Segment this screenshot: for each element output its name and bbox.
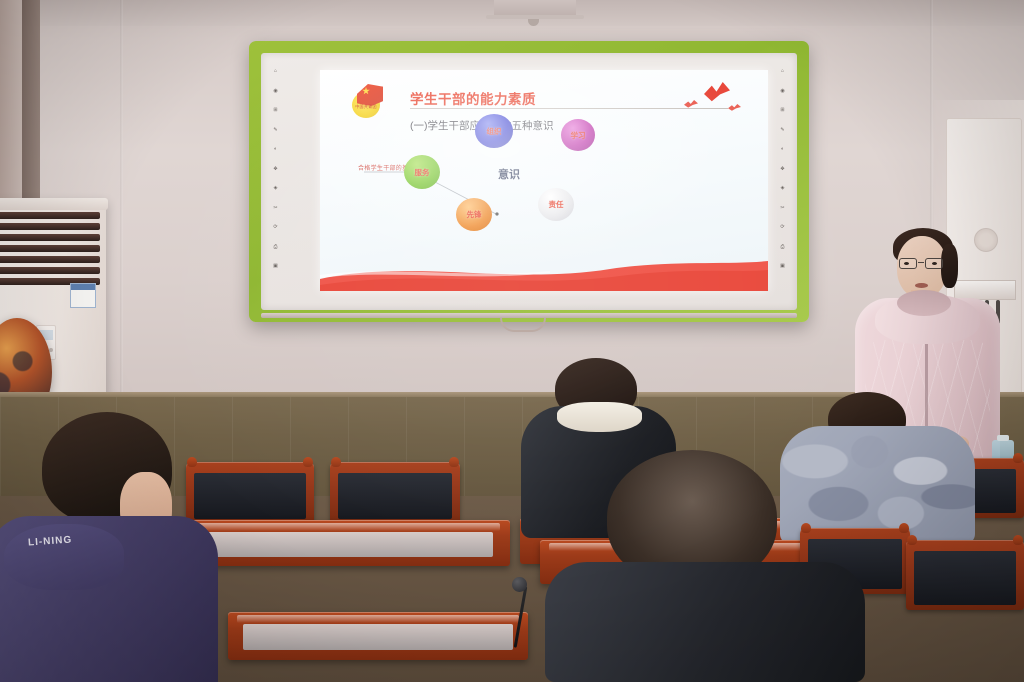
wb-icon-cut-right[interactable]: ✂ [780,206,784,211]
center-concept-label: 意识 [498,166,520,182]
wb-icon-contrast-right[interactable]: ◐ [781,147,784,152]
classroom-scene: ⌂ ◉ ⊞ ✎ ◐ ✥ ◈ ✂ ⟳ ⎙ ▣ ⌂ ◉ ⊞ ✎ ◐ ✥ ◈ ✂ ⟳ … [0,0,1024,682]
wb-icon-shape-left[interactable]: ◈ [274,186,278,191]
wb-icon-home-left[interactable]: ⌂ [274,69,277,74]
microphone-icon [512,577,527,592]
bubble-responsibility-label: 责任 [549,199,564,210]
wb-icon-pen-left[interactable]: ✎ [273,128,277,133]
wb-icon-record-left[interactable]: ◉ [273,89,277,94]
wb-icon-move-left[interactable]: ✥ [273,167,277,172]
wb-icon-refresh-left[interactable]: ⟳ [273,225,277,230]
presenter-eye-right [932,262,937,265]
emblem-label: 中国共青团 [354,104,378,110]
air-conditioner-vents [0,212,100,294]
wb-icon-record-right[interactable]: ◉ [780,89,784,94]
presenter-mouth [915,283,928,288]
wb-icon-stop-left[interactable]: ▣ [273,264,278,269]
student-center-back-hood-lining [557,402,642,432]
student-front-center-jacket [545,562,865,682]
bubble-learning: 学习 [561,119,595,151]
wb-icon-stop-right[interactable]: ▣ [780,264,785,269]
bubble-organization: 组织 [475,114,513,148]
whiteboard-cable [500,318,546,332]
wb-icon-contrast-left[interactable]: ◐ [274,147,277,152]
wb-icon-grid-right[interactable]: ⊞ [780,108,784,113]
youth-league-emblem-icon: 中国共青团 [350,82,386,118]
wall-seam-1 [120,0,123,400]
wall-pillar-left [0,0,22,200]
chair-row-2-far-right[interactable] [906,540,1024,610]
flying-birds-icon [680,82,750,116]
slide-wave-graphic [320,249,768,291]
wb-icon-pen-right[interactable]: ✎ [780,128,784,133]
student-front-center [545,450,865,682]
wb-icon-home-right[interactable]: ⌂ [781,69,784,74]
bubble-organization-label: 组织 [487,126,502,137]
bubble-pioneer: 先锋 [456,198,492,231]
student-front-left-hood [4,524,124,590]
wall-dark-strip [22,0,40,200]
wb-icon-print-left[interactable]: ⎙ [273,245,277,250]
bubble-service-label: 服务 [415,167,430,178]
air-conditioner-top [0,198,108,210]
whiteboard-controls-left[interactable]: ⌂ ◉ ⊞ ✎ ◐ ✥ ◈ ✂ ⟳ ⎙ ▣ [271,69,280,269]
interactive-whiteboard[interactable]: ⌂ ◉ ⊞ ✎ ◐ ✥ ◈ ✂ ⟳ ⎙ ▣ ⌂ ◉ ⊞ ✎ ◐ ✥ ◈ ✂ ⟳ … [249,41,809,322]
title-underline [410,108,728,109]
slide-title: 学生干部的能力素质 [410,88,536,108]
student-front-left: LI-NING [0,412,230,682]
presenter-eye-left [904,262,909,265]
bubble-service: 服务 [404,155,440,189]
wb-icon-shape-right[interactable]: ◈ [781,186,785,191]
whiteboard-controls-right[interactable]: ⌂ ◉ ⊞ ✎ ◐ ✥ ◈ ✂ ⟳ ⎙ ▣ [778,69,787,269]
bubble-responsibility: 责任 [538,188,574,221]
bubble-learning-label: 学习 [571,130,586,141]
wb-icon-cut-left[interactable]: ✂ [273,206,277,211]
wb-icon-print-right[interactable]: ⎙ [780,245,784,250]
chair-empty-2[interactable] [330,462,460,524]
wb-icon-move-right[interactable]: ✥ [780,167,784,172]
wb-icon-grid-left[interactable]: ⊞ [273,108,277,113]
presenter-hood-opening [897,290,951,316]
desk-row-2-left[interactable] [228,612,528,660]
air-conditioner-label [70,283,96,308]
projected-slide: 中国共青团 学生干部的能力素质 (一)学生干部应具备的五种意识 合格学生干部的基… [320,70,768,291]
wb-icon-refresh-right[interactable]: ⟳ [780,225,784,230]
bubble-pioneer-label: 先锋 [467,209,482,220]
